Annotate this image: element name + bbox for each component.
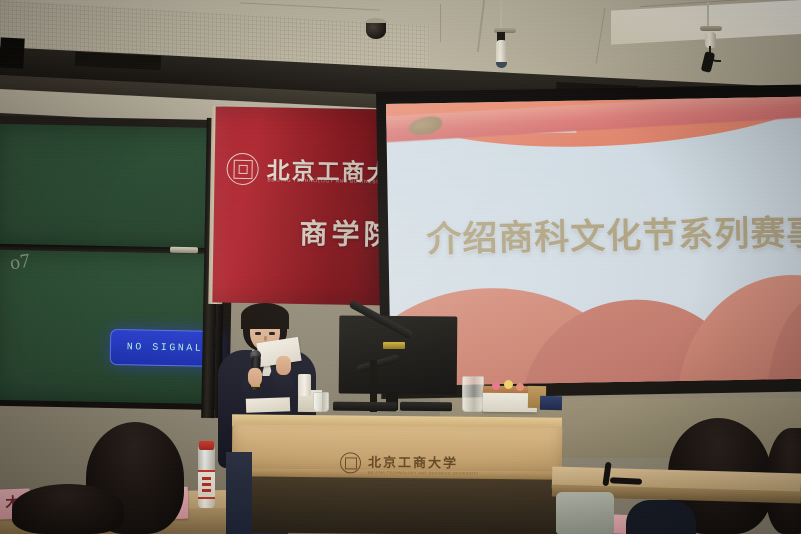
dome-security-camera — [365, 18, 387, 39]
red-banner: 北京工商大学 BEIJING TECHNOLOGY AND BUSINESS U… — [212, 106, 393, 305]
presenter-hair-top — [241, 303, 289, 329]
flower — [504, 380, 513, 389]
flower — [516, 383, 524, 391]
chalk-writing: o7 — [9, 251, 32, 274]
chalkboard-handle[interactable] — [170, 247, 198, 254]
chalkboard-upper-panel[interactable] — [0, 124, 223, 250]
slide-title: 介绍商科文化节系列赛事 — [426, 204, 801, 262]
ceiling-seam — [440, 4, 441, 42]
mic-rod — [500, 0, 502, 30]
flower — [492, 382, 500, 390]
podium-university-name: 北京工商大学 — [368, 452, 479, 472]
monitor-badge — [383, 342, 405, 349]
bottle-cap[interactable] — [199, 441, 214, 450]
audience-shoulders — [626, 500, 696, 534]
dome-camera-lens — [366, 23, 386, 39]
desk-paper-stack — [246, 397, 290, 413]
desk-dispenser[interactable] — [298, 374, 311, 396]
banner-fold-shading — [212, 106, 393, 305]
audience-head — [12, 484, 124, 534]
floor-shadow — [232, 476, 563, 534]
keyboard[interactable] — [333, 402, 397, 412]
drinking-cup[interactable] — [313, 392, 329, 412]
mic-rod — [707, 2, 709, 28]
podium-university-emblem: 北京工商大学 BEIJING TECHNOLOGY AND BUSINESS U… — [340, 451, 479, 475]
university-logo-icon — [340, 452, 361, 473]
control-panel[interactable] — [400, 402, 452, 412]
chair[interactable] — [556, 492, 614, 534]
desk-folder — [540, 396, 562, 410]
chalkboard-lower-panel[interactable] — [0, 250, 223, 404]
eye-left — [255, 332, 261, 335]
ceiling-track-end — [0, 37, 25, 68]
presenter-hand-right — [276, 356, 291, 375]
lecture-hall-photo: o7 NO SIGNAL 北京工商大学 BEIJING TECHNOLOGY A… — [0, 0, 801, 534]
bottle-label — [198, 470, 215, 499]
eye-right — [269, 332, 275, 335]
presenter-lower-body — [226, 452, 252, 534]
drinking-cup[interactable] — [462, 376, 484, 412]
mic-mount-plate — [700, 26, 722, 31]
nose — [264, 336, 267, 341]
presenter-hand-left — [248, 368, 262, 386]
